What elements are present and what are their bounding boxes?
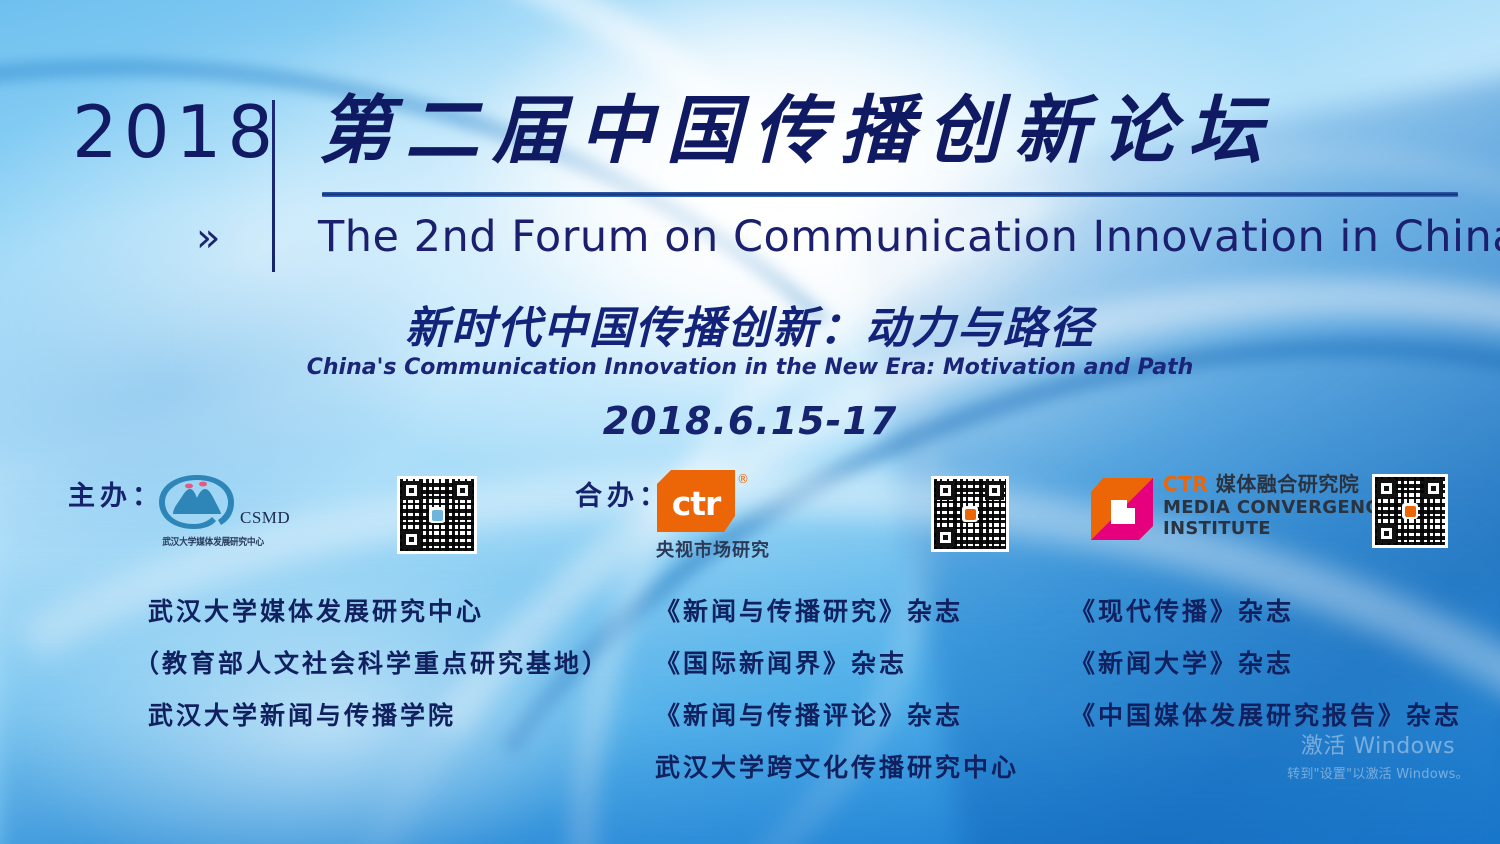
ctr-logo: ctr ® 央视市场研究 <box>657 470 749 564</box>
ctr-wordmark: ctr <box>672 484 721 523</box>
list-item: 《中国媒体发展研究报告》杂志 <box>1070 690 1462 742</box>
page-title-english: The 2nd Forum on Communication Innovatio… <box>318 212 1463 262</box>
csmd-acronym: CSMD <box>240 508 290 528</box>
mci-cube-icon <box>1089 476 1155 542</box>
mci-logo: CTR 媒体融合研究院 MEDIA CONVERGENCE INSTITUTE <box>1089 472 1371 548</box>
mci-line3: INSTITUTE <box>1163 518 1391 539</box>
theme-english: China's Communication Innovation in the … <box>0 355 1500 380</box>
double-chevron-right-icon: » <box>196 218 220 258</box>
year-label: 2018 <box>72 96 279 168</box>
page-title-chinese: 第二届中国传播创新论坛 <box>318 82 1458 182</box>
list-item: 《新闻大学》杂志 <box>1070 638 1462 690</box>
qr-code-mci[interactable] <box>1372 474 1448 548</box>
list-item: 《国际新闻界》杂志 <box>655 638 1019 690</box>
ctr-orange-badge-icon: ctr <box>657 470 735 532</box>
mci-line1: CTR 媒体融合研究院 <box>1163 472 1391 497</box>
qr-finder-icon <box>936 528 955 547</box>
qr-finder-icon <box>453 481 472 500</box>
mci-line2: MEDIA CONVERGENCE <box>1163 497 1391 518</box>
csmd-circle-mountain-icon <box>154 472 240 532</box>
event-date: 2018.6.15-17 <box>0 399 1500 443</box>
list-item: （教育部人文社会科学重点研究基地） <box>134 638 610 690</box>
csmd-subtitle: 武汉大学媒体发展研究中心 <box>153 534 273 548</box>
organizer-list-right: 《现代传播》杂志 《新闻大学》杂志 《中国媒体发展研究报告》杂志 <box>1070 586 1462 742</box>
organizer-list-left: 武汉大学媒体发展研究中心 （教育部人文社会科学重点研究基地） 武汉大学新闻与传播… <box>148 586 610 742</box>
qr-center-logo <box>429 507 445 523</box>
qr-center-logo <box>1402 503 1418 519</box>
ctr-subtitle: 央视市场研究 <box>656 536 770 562</box>
list-item: 《新闻与传播评论》杂志 <box>655 690 1019 742</box>
horizontal-divider <box>322 192 1458 197</box>
qr-finder-icon <box>1377 524 1396 543</box>
list-item: 武汉大学媒体发展研究中心 <box>148 586 610 638</box>
qr-finder-icon <box>936 481 955 500</box>
qr-finder-icon <box>402 481 421 500</box>
qr-code-ctr[interactable] <box>931 476 1009 552</box>
organizer-list-middle: 《新闻与传播研究》杂志 《国际新闻界》杂志 《新闻与传播评论》杂志 武汉大学跨文… <box>655 586 1019 794</box>
registered-mark-icon: ® <box>737 472 749 486</box>
conference-poster: 2018 » 第二届中国传播创新论坛 The 2nd Forum on Comm… <box>0 0 1500 844</box>
list-item: 《现代传播》杂志 <box>1070 586 1462 638</box>
theme-chinese: 新时代中国传播创新：动力与路径 <box>0 292 1500 356</box>
qr-finder-icon <box>1424 479 1443 498</box>
vertical-divider <box>272 100 275 272</box>
list-item: 武汉大学跨文化传播研究中心 <box>655 742 1019 794</box>
qr-finder-icon <box>985 481 1004 500</box>
mci-brand: CTR <box>1163 472 1208 496</box>
csmd-logo: CSMD 武汉大学媒体发展研究中心 <box>148 472 278 558</box>
list-item: 《新闻与传播研究》杂志 <box>655 586 1019 638</box>
qr-code-csmd[interactable] <box>397 476 477 554</box>
list-item: 武汉大学新闻与传播学院 <box>148 690 610 742</box>
qr-finder-icon <box>402 530 421 549</box>
qr-finder-icon <box>1377 479 1396 498</box>
qr-center-logo <box>962 506 978 522</box>
mci-name-cn: 媒体融合研究院 <box>1208 472 1359 496</box>
